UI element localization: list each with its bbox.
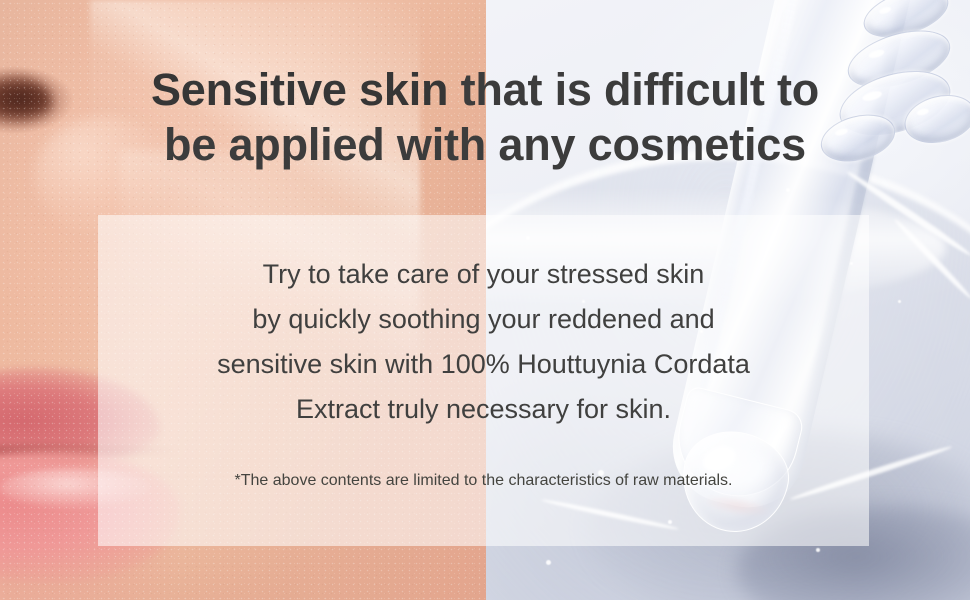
cosmetic-promo-banner: Sensitive skin that is difficult to be a…	[0, 0, 970, 600]
body-copy-line: by quickly soothing your reddened and	[98, 297, 869, 342]
footnote-disclaimer: *The above contents are limited to the c…	[98, 470, 869, 492]
headline-line1-rest: that is difficult to	[448, 64, 819, 115]
headline: Sensitive skin that is difficult to be a…	[0, 62, 970, 172]
headline-emphasis: Sensitive skin	[151, 64, 448, 115]
body-copy-line: sensitive skin with 100% Houttuynia Cord…	[98, 342, 869, 387]
body-copy-line: Extract truly necessary for skin.	[98, 387, 869, 432]
banner-text-layer: Sensitive skin that is difficult to be a…	[0, 0, 970, 600]
body-copy: Try to take care of your stressed skin b…	[98, 252, 869, 432]
body-copy-line: Try to take care of your stressed skin	[98, 252, 869, 297]
headline-line2: be applied with any cosmetics	[0, 117, 970, 172]
